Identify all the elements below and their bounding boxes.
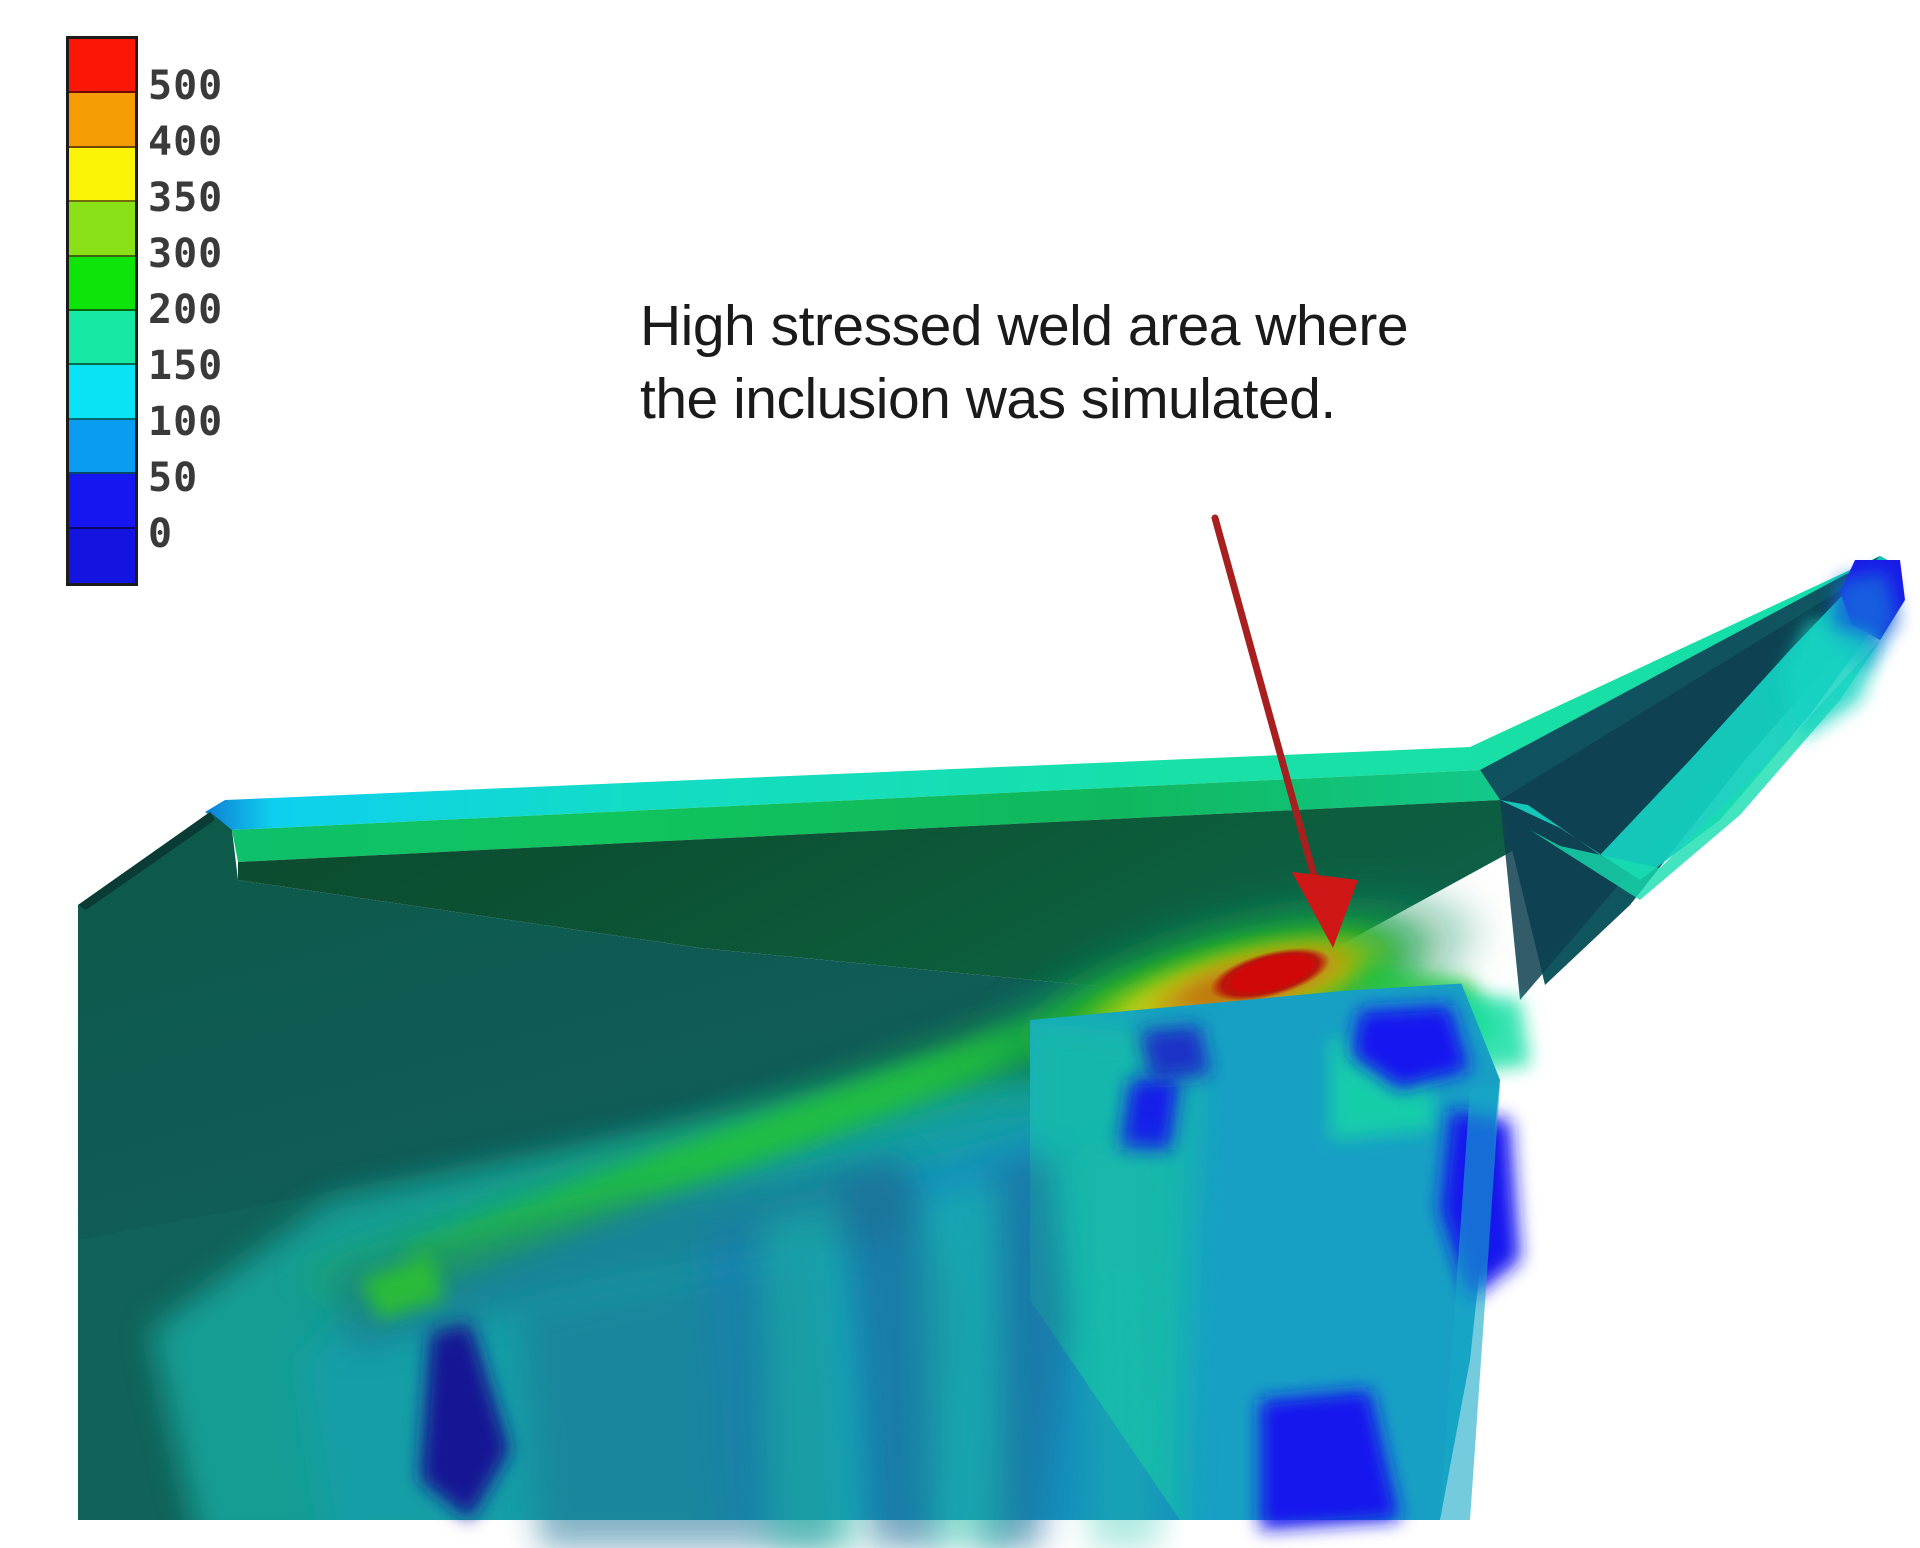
- teal-channel-3: [1080, 1140, 1160, 1548]
- callout-annotation: High stressed weld area where the inclus…: [640, 290, 1710, 436]
- fea-stress-contour-model: [0, 0, 1920, 1548]
- callout-line-1: High stressed weld area where: [640, 290, 1710, 363]
- blue-patch-left-small: [1140, 1025, 1210, 1080]
- blue-patch-mid: [1120, 1078, 1180, 1150]
- teal-channel-2: [920, 1180, 1010, 1548]
- callout-line-2: the inclusion was simulated.: [640, 363, 1710, 436]
